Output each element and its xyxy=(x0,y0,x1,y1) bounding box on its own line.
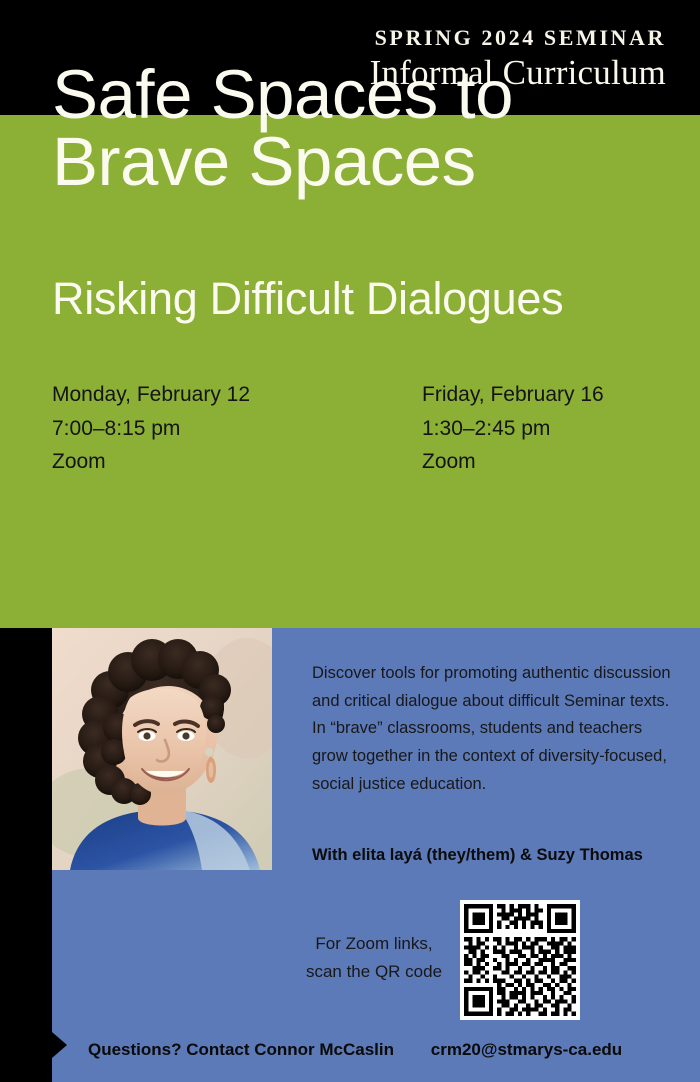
footer: Questions? Contact Connor McCaslin crm20… xyxy=(88,1040,688,1060)
presenters-text: With elita layá (they/them) & Suzy Thoma… xyxy=(312,845,682,866)
session-location: Zoom xyxy=(52,445,422,479)
page-title-line-2: Brave Spaces xyxy=(52,129,672,196)
description-text: Discover tools for promoting authentic d… xyxy=(312,660,672,799)
poster: SPRING 2024 SEMINAR Informal Curriculum … xyxy=(0,0,700,1082)
page-subtitle: Risking Difficult Dialogues xyxy=(52,275,692,322)
page-title: Safe Spaces to Brave Spaces xyxy=(52,62,672,196)
footer-contact: Questions? Contact Connor McCaslin xyxy=(88,1040,394,1060)
session-time: 7:00–8:15 pm xyxy=(52,412,422,446)
qr-caption: For Zoom links, scan the QR code xyxy=(300,930,448,985)
left-black-strip xyxy=(0,628,52,1082)
session-location: Zoom xyxy=(422,445,672,479)
footer-email[interactable]: crm20@stmarys-ca.edu xyxy=(431,1040,622,1060)
sessions-list: Monday, February 12 7:00–8:15 pm Zoom Fr… xyxy=(52,378,672,479)
session-item: Friday, February 16 1:30–2:45 pm Zoom xyxy=(422,378,672,479)
header-kicker: SPRING 2024 SEMINAR xyxy=(370,26,666,50)
session-date: Monday, February 12 xyxy=(52,378,422,412)
qr-caption-line-2: scan the QR code xyxy=(300,958,448,986)
session-item: Monday, February 12 7:00–8:15 pm Zoom xyxy=(52,378,422,479)
session-date: Friday, February 16 xyxy=(422,378,672,412)
presenter-photo xyxy=(52,628,272,870)
session-time: 1:30–2:45 pm xyxy=(422,412,672,446)
qr-caption-line-1: For Zoom links, xyxy=(300,930,448,958)
arrow-marker-icon xyxy=(52,1032,67,1058)
page-title-line-1: Safe Spaces to xyxy=(52,62,672,129)
qr-code[interactable] xyxy=(460,900,580,1020)
